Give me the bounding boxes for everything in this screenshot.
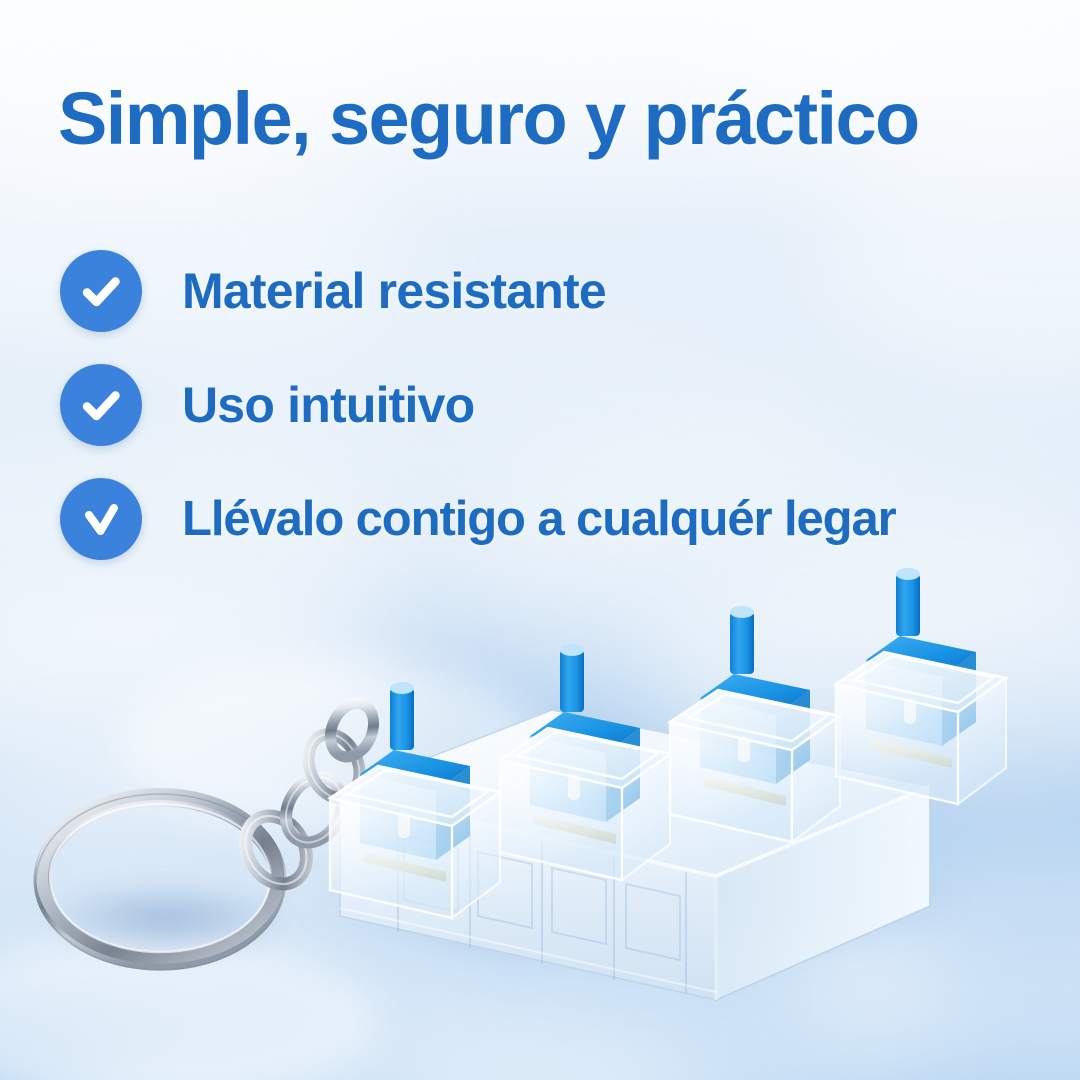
feature-list: Material resistante Uso intuitivo Lléval… [60,248,1040,590]
feature-label: Llévalo contigo a cualquér legar [182,491,896,547]
feature-label: Uso intuitivo [182,376,474,434]
switch-unit [500,644,670,880]
page-title: Simple, seguro y práctico [58,82,919,156]
check-circle-icon [60,250,142,332]
feature-label: Material resistante [182,262,606,320]
check-down-circle-icon [60,478,142,560]
check-circle-icon [60,364,142,446]
switch-unit [670,606,840,842]
product-promo-poster: Simple, seguro y práctico Material resis… [0,0,1080,1080]
feature-item-usage: Uso intuitivo [60,362,1040,448]
feature-item-portability: Llévalo contigo a cualquér legar [60,476,1040,562]
product-photo [0,560,1080,1080]
switch-unit [330,682,500,918]
feature-item-material: Material resistante [60,248,1040,334]
switch-unit [836,568,1006,804]
